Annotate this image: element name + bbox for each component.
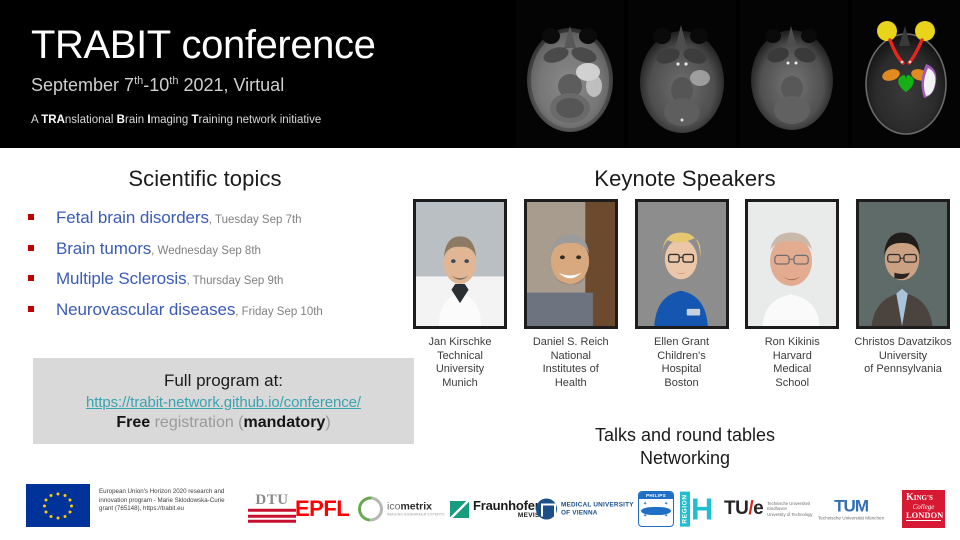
icometrix-text: icometrix IMAGING BIOMARKER EXPERTS	[387, 502, 445, 517]
speaker-caption: Daniel S. Reich National Institutes of H…	[533, 336, 609, 390]
dates-sup1: th	[134, 75, 143, 87]
speaker-name: Daniel S. Reich	[533, 336, 609, 350]
conference-poster: TRABIT conference September 7th-10th 202…	[0, 0, 960, 540]
keynote-speakers-heading: Keynote Speakers	[410, 166, 960, 192]
square-bullet-icon	[28, 214, 34, 220]
mandatory-label: mandatory	[244, 414, 326, 431]
tue-sub3: University of Technology	[767, 512, 812, 517]
tagline-raining: raining network initiative	[199, 114, 322, 126]
philips-label: PHILIPS	[639, 492, 673, 499]
tagline-t: T	[191, 114, 198, 126]
header-text-block: TRABIT conference September 7th-10th 202…	[31, 22, 375, 127]
logo-icometrix: icometrix IMAGING BIOMARKER EXPERTS	[358, 497, 445, 522]
list-item: Fetal brain disorders , Tuesday Sep 7th	[28, 208, 408, 228]
speaker-affiliation: National Institutes of Health	[533, 350, 609, 391]
page-title: TRABIT conference	[31, 22, 375, 68]
footer-logo-strip: European Union's Horizon 2020 research a…	[0, 478, 960, 540]
speaker-photo	[856, 199, 950, 329]
eu-flag-icon	[26, 484, 90, 527]
speaker-caption: Ellen Grant Children's Hospital Boston	[654, 336, 709, 390]
logo-tu-eindhoven: TU/e Technische Universiteit Eindhoven U…	[724, 498, 813, 520]
square-bullet-icon	[28, 306, 34, 312]
partner-logos: DTU EPFL icometrix IMAGING BIOMARKER EXP…	[240, 478, 960, 540]
registration-note: Free registration (mandatory)	[116, 414, 330, 432]
title-conference: conference	[171, 23, 376, 67]
speaker-name: Ron Kikinis	[765, 336, 820, 350]
talks-networking-text: Talks and round tables Networking	[410, 424, 960, 470]
logo-region-h: REGION H	[680, 491, 713, 526]
speaker-photo	[413, 199, 507, 329]
speaker-affiliation: University of Pennsylvania	[854, 350, 951, 377]
topic-name: Fetal brain disorders	[56, 208, 209, 228]
mri-t1-axial-2-image	[740, 0, 848, 148]
fraunhofer-label: Fraunhofer	[473, 499, 540, 512]
speaker-card: Ellen Grant Children's Hospital Boston	[631, 199, 733, 390]
region-h-letter: H	[691, 494, 713, 525]
logo-epfl: EPFL	[295, 496, 349, 522]
philips-shield-icon: ✦ ✦ ✦ ✦	[639, 499, 673, 521]
dates-post: 2021, Virtual	[178, 75, 284, 95]
speaker-card: Jan Kirschke Technical University Munich	[409, 199, 511, 390]
speaker-affiliation: Children's Hospital Boston	[654, 350, 709, 391]
networking-line: Networking	[410, 447, 960, 470]
logo-philips: PHILIPS ✦ ✦ ✦ ✦	[638, 491, 674, 527]
speaker-affiliation: Technical University Munich	[429, 350, 492, 391]
speaker-caption: Jan Kirschke Technical University Munich	[429, 336, 492, 390]
speaker-card: Daniel S. Reich National Institutes of H…	[520, 199, 622, 390]
mri-t1-axial-image	[628, 0, 736, 148]
list-item: Brain tumors , Wednesday Sep 8th	[28, 239, 408, 259]
speaker-photo	[524, 199, 618, 329]
logo-tum: TUM Technische Universität München	[818, 498, 884, 521]
speaker-name: Jan Kirschke	[429, 336, 492, 350]
vienna-text: MEDICAL UNIVERSITY OF VIENNA	[561, 501, 634, 517]
logo-kings-college-london: KING'S College LONDON	[902, 490, 945, 528]
dates-mid: -10	[143, 75, 169, 95]
icometrix-label: icometrix	[387, 502, 445, 513]
mri-segmentation-overlay-image	[852, 0, 960, 148]
vienna-line2: OF VIENNA	[561, 509, 634, 517]
eu-funding-block: European Union's Horizon 2020 research a…	[26, 484, 229, 527]
tue-subtitle: Technische Universiteit Eindhoven Univer…	[767, 501, 812, 517]
icometrix-mark-icon	[353, 491, 388, 526]
speaker-photo	[635, 199, 729, 329]
conference-url-link[interactable]: https://trabit-network.github.io/confere…	[86, 394, 361, 411]
logo-fraunhofer: Fraunhofer MEVIS	[450, 499, 540, 519]
kcl-kings-label: KING'S	[906, 493, 941, 503]
keynote-speakers-gallery: Jan Kirschke Technical University Munich	[409, 199, 954, 390]
free-label: Free	[116, 414, 150, 431]
logo-medical-university-vienna: MEDICAL UNIVERSITY OF VIENNA	[536, 499, 634, 520]
tagline-maging: maging	[151, 114, 192, 126]
talks-line: Talks and round tables	[410, 424, 960, 447]
fraunhofer-text: Fraunhofer MEVIS	[473, 499, 540, 519]
kcl-london-label: LONDON	[906, 511, 941, 521]
topic-date: , Wednesday Sep 8th	[151, 245, 261, 257]
tagline-nslational: nslational	[65, 114, 117, 126]
tagline-tra: TRA	[41, 114, 65, 126]
header-banner: TRABIT conference September 7th-10th 202…	[0, 0, 960, 148]
dtu-bars-icon	[248, 509, 296, 523]
tum-subtitle: Technische Universität München	[818, 516, 884, 521]
vienna-line1: MEDICAL UNIVERSITY	[561, 501, 634, 509]
square-bullet-icon	[28, 245, 34, 251]
speaker-caption: Christos Davatzikos University of Pennsy…	[854, 336, 951, 377]
region-label: REGION	[680, 491, 690, 526]
speaker-card: Ron Kikinis Harvard Medical School	[741, 199, 843, 390]
topic-name: Neurovascular diseases	[56, 300, 235, 320]
vienna-seal-icon	[536, 499, 557, 520]
speaker-name: Christos Davatzikos	[854, 336, 951, 350]
full-program-box: Full program at: https://trabit-network.…	[33, 358, 414, 444]
tagline-rain: rain	[125, 114, 147, 126]
speaker-name: Ellen Grant	[654, 336, 709, 350]
dates-pre: September 7	[31, 75, 134, 95]
eu-funding-text: European Union's Horizon 2020 research a…	[99, 484, 229, 514]
tagline-a: A	[31, 114, 41, 126]
dtu-label: DTU	[248, 493, 296, 508]
logo-dtu: DTU	[248, 493, 296, 526]
topic-date: , Tuesday Sep 7th	[209, 214, 302, 226]
fraunhofer-mevis-label: MEVIS	[473, 512, 540, 519]
network-tagline: A TRAnslational Brain Imaging Training n…	[31, 113, 375, 127]
registration-label: registration (	[150, 414, 243, 431]
mri-image-strip	[516, 0, 960, 148]
topic-name: Multiple Sclerosis	[56, 269, 186, 289]
fraunhofer-mark-icon	[450, 501, 469, 518]
conference-dates: September 7th-10th 2021, Virtual	[31, 74, 375, 96]
tum-label: TUM	[818, 498, 884, 515]
topic-date: , Thursday Sep 9th	[186, 275, 283, 287]
topic-date: , Friday Sep 10th	[235, 306, 323, 318]
scientific-topics-heading: Scientific topics	[0, 166, 410, 192]
tagline-b: B	[117, 114, 125, 126]
close-paren: )	[325, 414, 330, 431]
speaker-affiliation: Harvard Medical School	[765, 350, 820, 391]
mri-flair-axial-image	[516, 0, 624, 148]
tue-label: TU/e	[724, 498, 763, 520]
title-trabit: TRABIT	[31, 23, 171, 67]
speaker-caption: Ron Kikinis Harvard Medical School	[765, 336, 820, 390]
list-item: Neurovascular diseases , Friday Sep 10th	[28, 300, 408, 320]
speaker-card: Christos Davatzikos University of Pennsy…	[852, 199, 954, 390]
list-item: Multiple Sclerosis , Thursday Sep 9th	[28, 269, 408, 289]
topic-name: Brain tumors	[56, 239, 151, 259]
icometrix-tagline: IMAGING BIOMARKER EXPERTS	[387, 513, 445, 517]
scientific-topics-list: Fetal brain disorders , Tuesday Sep 7th …	[28, 208, 408, 330]
square-bullet-icon	[28, 275, 34, 281]
speaker-photo	[745, 199, 839, 329]
full-program-label: Full program at:	[164, 371, 283, 391]
